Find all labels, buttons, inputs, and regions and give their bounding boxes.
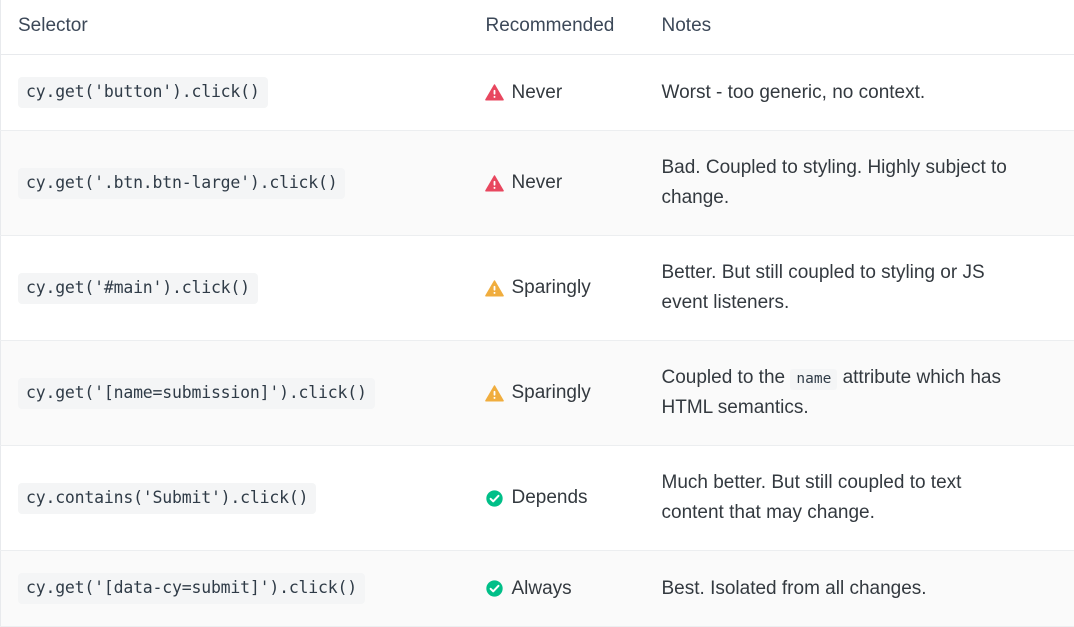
note-text: Best. Isolated from all changes. bbox=[662, 574, 1053, 604]
note-line: content that may change. bbox=[662, 498, 1053, 528]
table-row: cy.get('[data-cy=submit]').click()Always… bbox=[1, 551, 1074, 627]
note-line: change. bbox=[662, 183, 1053, 213]
note-line: Best. Isolated from all changes. bbox=[662, 574, 1053, 604]
column-header-notes: Notes bbox=[648, 0, 1074, 55]
note-text: Bad. Coupled to styling. Highly subject … bbox=[662, 153, 1053, 213]
cell-recommended: Always bbox=[473, 551, 648, 627]
note-line: Much better. But still coupled to text bbox=[662, 468, 1053, 498]
cell-recommended: Depends bbox=[473, 446, 648, 551]
table-header-row: Selector Recommended Notes bbox=[1, 0, 1074, 55]
selector-code-snippet: cy.contains('Submit').click() bbox=[18, 483, 316, 514]
note-text: Much better. But still coupled to textco… bbox=[662, 468, 1053, 528]
inline-code-attribute: name bbox=[790, 369, 837, 390]
warning-triangle-icon bbox=[485, 279, 504, 298]
recommendation-badge: Always bbox=[485, 577, 640, 601]
recommendation-badge: Depends bbox=[485, 486, 640, 510]
recommendation-badge: Sparingly bbox=[485, 381, 640, 405]
cell-selector: cy.get('button').click() bbox=[1, 55, 473, 131]
selector-code-snippet: cy.get('#main').click() bbox=[18, 273, 258, 304]
recommendation-badge: Never bbox=[485, 171, 640, 195]
cell-selector: cy.get('[name=submission]').click() bbox=[1, 341, 473, 446]
table-header: Selector Recommended Notes bbox=[1, 0, 1074, 55]
recommendation-badge: Never bbox=[485, 81, 640, 105]
note-line: HTML semantics. bbox=[662, 393, 1053, 423]
note-line: Worst - too generic, no context. bbox=[662, 78, 1053, 108]
check-circle-icon bbox=[485, 489, 504, 508]
note-text: Better. But still coupled to styling or … bbox=[662, 258, 1053, 318]
cell-notes: Worst - too generic, no context. bbox=[648, 55, 1074, 131]
cell-selector: cy.get('.btn.btn-large').click() bbox=[1, 131, 473, 236]
note-line: Coupled to the name attribute which has bbox=[662, 363, 1053, 393]
warning-triangle-icon bbox=[485, 174, 504, 193]
recommendation-label: Always bbox=[512, 577, 572, 601]
cell-notes: Much better. But still coupled to textco… bbox=[648, 446, 1074, 551]
recommendation-badge: Sparingly bbox=[485, 276, 640, 300]
selector-code-snippet: cy.get('.btn.btn-large').click() bbox=[18, 168, 345, 199]
recommendation-label: Never bbox=[512, 171, 563, 195]
column-header-recommended: Recommended bbox=[473, 0, 648, 55]
selector-code-snippet: cy.get('[name=submission]').click() bbox=[18, 378, 375, 409]
note-line: Bad. Coupled to styling. Highly subject … bbox=[662, 153, 1053, 183]
check-circle-icon bbox=[485, 579, 504, 598]
cell-selector: cy.get('[data-cy=submit]').click() bbox=[1, 551, 473, 627]
cell-notes: Better. But still coupled to styling or … bbox=[648, 236, 1074, 341]
cell-recommended: Never bbox=[473, 131, 648, 236]
table-row: cy.get('.btn.btn-large').click()NeverBad… bbox=[1, 131, 1074, 236]
selector-code-snippet: cy.get('[data-cy=submit]').click() bbox=[18, 573, 365, 604]
recommendation-label: Never bbox=[512, 81, 563, 105]
table-row: cy.get('#main').click()SparinglyBetter. … bbox=[1, 236, 1074, 341]
table-row: cy.get('[name=submission]').click()Spari… bbox=[1, 341, 1074, 446]
warning-triangle-icon bbox=[485, 83, 504, 102]
note-prefix: Coupled to the bbox=[662, 367, 786, 388]
table-row: cy.contains('Submit').click()DependsMuch… bbox=[1, 446, 1074, 551]
cell-recommended: Sparingly bbox=[473, 236, 648, 341]
cell-notes: Coupled to the name attribute which hasH… bbox=[648, 341, 1074, 446]
warning-triangle-icon bbox=[485, 384, 504, 403]
recommendation-label: Depends bbox=[512, 486, 588, 510]
note-text: Worst - too generic, no context. bbox=[662, 78, 1053, 108]
note-line: event listeners. bbox=[662, 288, 1053, 318]
note-suffix: attribute which has bbox=[843, 367, 1001, 388]
selector-best-practices-table: Selector Recommended Notes cy.get('butto… bbox=[0, 0, 1074, 627]
table-body: cy.get('button').click()NeverWorst - too… bbox=[1, 55, 1074, 627]
cell-notes: Bad. Coupled to styling. Highly subject … bbox=[648, 131, 1074, 236]
table-row: cy.get('button').click()NeverWorst - too… bbox=[1, 55, 1074, 131]
selector-best-practices-table-container: Selector Recommended Notes cy.get('butto… bbox=[0, 0, 1074, 625]
cell-notes: Best. Isolated from all changes. bbox=[648, 551, 1074, 627]
cell-recommended: Sparingly bbox=[473, 341, 648, 446]
cell-recommended: Never bbox=[473, 55, 648, 131]
recommendation-label: Sparingly bbox=[512, 381, 591, 405]
column-header-selector: Selector bbox=[1, 0, 473, 55]
recommendation-label: Sparingly bbox=[512, 276, 591, 300]
note-text: Coupled to the name attribute which hasH… bbox=[662, 363, 1053, 423]
note-line: Better. But still coupled to styling or … bbox=[662, 258, 1053, 288]
cell-selector: cy.get('#main').click() bbox=[1, 236, 473, 341]
selector-code-snippet: cy.get('button').click() bbox=[18, 77, 268, 108]
cell-selector: cy.contains('Submit').click() bbox=[1, 446, 473, 551]
